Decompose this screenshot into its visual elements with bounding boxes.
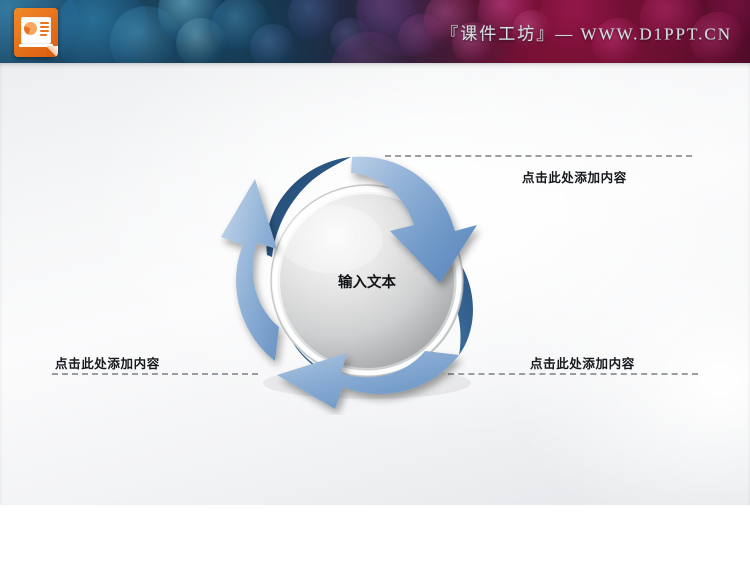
slide-screenshot: 『课件工坊』— WWW.D1PPT.CN 点击此处添加内容 点击此处添加内容 点… (0, 0, 750, 563)
bokeh-circle (176, 18, 226, 63)
arrow-left (221, 179, 279, 361)
bokeh-circle (398, 14, 446, 62)
bokeh-circle (212, 0, 270, 54)
header-banner: 『课件工坊』— WWW.D1PPT.CN (0, 0, 750, 63)
slide-canvas: 点击此处添加内容 点击此处添加内容 点击此处添加内容 (0, 63, 750, 505)
label-bottom-left[interactable]: 点击此处添加内容 (55, 353, 160, 372)
label-top-right[interactable]: 点击此处添加内容 (522, 167, 627, 186)
footer-bar: 课件工坊 HTTP://WWW.D1PPT.CN (0, 505, 750, 563)
bokeh-circle (356, 0, 452, 56)
pie-chart-icon (24, 22, 37, 35)
powerpoint-logo-icon (14, 8, 58, 57)
label-bottom-right[interactable]: 点击此处添加内容 (530, 353, 635, 372)
bokeh-circle (330, 18, 370, 58)
bokeh-circle (110, 6, 182, 63)
bokeh-circle (356, 0, 418, 42)
center-text-svg: 输入文本 (338, 273, 396, 291)
bokeh-circle (288, 0, 342, 42)
bokeh-circle (55, 0, 151, 63)
cycle-diagram: 输入文本 (215, 135, 515, 415)
bokeh-circle (330, 32, 408, 63)
header-title: 『课件工坊』— WWW.D1PPT.CN (441, 19, 732, 44)
bokeh-circle (250, 24, 296, 63)
bokeh-circle (158, 0, 224, 44)
